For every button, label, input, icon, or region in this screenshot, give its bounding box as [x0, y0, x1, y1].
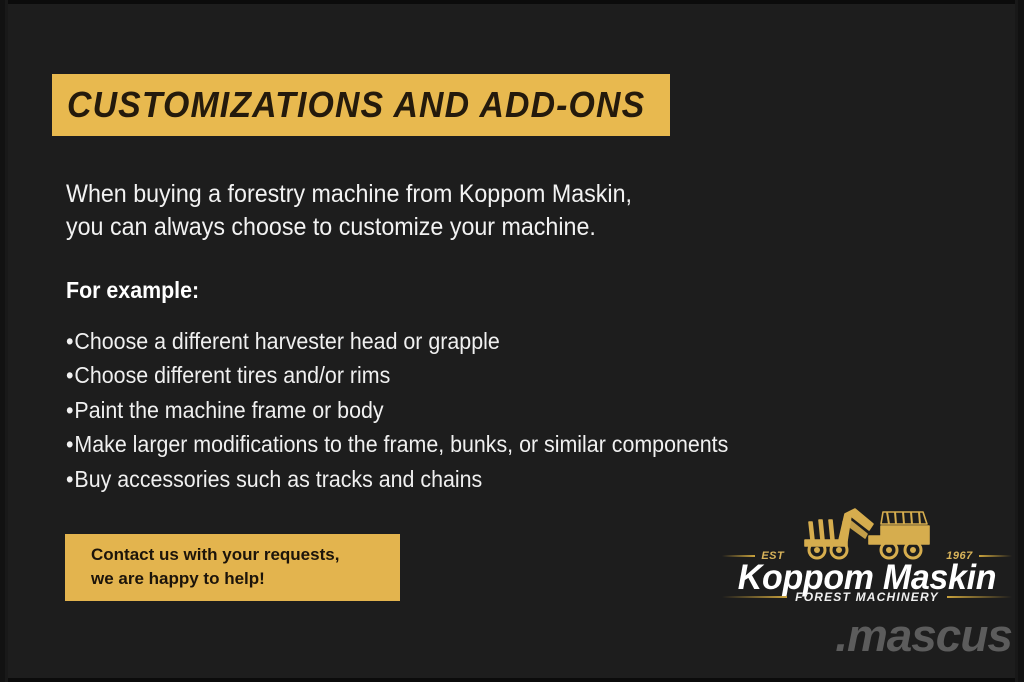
frame-edge-bottom — [0, 678, 1024, 682]
list-item: • Paint the machine frame or body — [66, 393, 728, 427]
frame-edge-left — [0, 0, 5, 682]
contact-cta-box[interactable]: Contact us with your requests, we are ha… — [65, 534, 400, 601]
example-heading: For example: — [66, 277, 199, 304]
logo-est-year: 1967 — [946, 550, 972, 562]
contact-line-1: Contact us with your requests, — [91, 543, 400, 567]
mascus-watermark: .mascus — [752, 612, 1010, 660]
bullet-dot-icon: • — [66, 393, 73, 427]
list-item-label: Buy accessories such as tracks and chain… — [74, 462, 482, 496]
bullet-dot-icon: • — [66, 324, 73, 358]
slide-canvas: CUSTOMIZATIONS AND ADD-ONS When buying a… — [0, 0, 1024, 682]
contact-line-2: we are happy to help! — [91, 567, 400, 591]
list-item: • Choose different tires and/or rims — [66, 358, 728, 392]
bullet-dot-icon: • — [66, 427, 73, 461]
logo-tagline-rule-left — [722, 596, 787, 598]
intro-line-1: When buying a forestry machine from Kopp… — [66, 178, 717, 211]
logo-tagline: FOREST MACHINERY — [795, 590, 939, 604]
bullet-dot-icon: • — [66, 462, 73, 496]
logo-rule-right — [979, 555, 1012, 557]
title-banner: CUSTOMIZATIONS AND ADD-ONS — [52, 74, 670, 136]
mascus-wordmark: .mascus — [835, 610, 1012, 662]
logo-rule-left — [722, 555, 755, 557]
list-item: • Choose a different harvester head or g… — [66, 324, 728, 358]
list-item-label: Paint the machine frame or body — [74, 393, 383, 427]
list-item-label: Make larger modifications to the frame, … — [74, 427, 728, 461]
page-title: CUSTOMIZATIONS AND ADD-ONS — [67, 84, 645, 126]
list-item-label: Choose different tires and/or rims — [74, 358, 390, 392]
frame-edge-top — [0, 0, 1024, 4]
frame-edge-right — [1018, 0, 1024, 682]
company-logo: EST 1967 Koppom Maskin FOREST MACHINERY — [722, 500, 1012, 610]
intro-line-2: you can always choose to customize your … — [66, 211, 717, 244]
list-item: • Make larger modifications to the frame… — [66, 427, 728, 461]
list-item-label: Choose a different harvester head or gra… — [74, 324, 499, 358]
logo-tagline-row: FOREST MACHINERY — [722, 590, 1012, 604]
customization-list: • Choose a different harvester head or g… — [66, 324, 728, 496]
bullet-dot-icon: • — [66, 358, 73, 392]
list-item: • Buy accessories such as tracks and cha… — [66, 462, 728, 496]
logo-tagline-rule-right — [947, 596, 1012, 598]
frame-edge-right-inner — [1015, 0, 1018, 682]
frame-edge-left-inner — [5, 0, 8, 682]
logo-est-label: EST — [761, 550, 784, 562]
intro-paragraph: When buying a forestry machine from Kopp… — [66, 178, 717, 244]
